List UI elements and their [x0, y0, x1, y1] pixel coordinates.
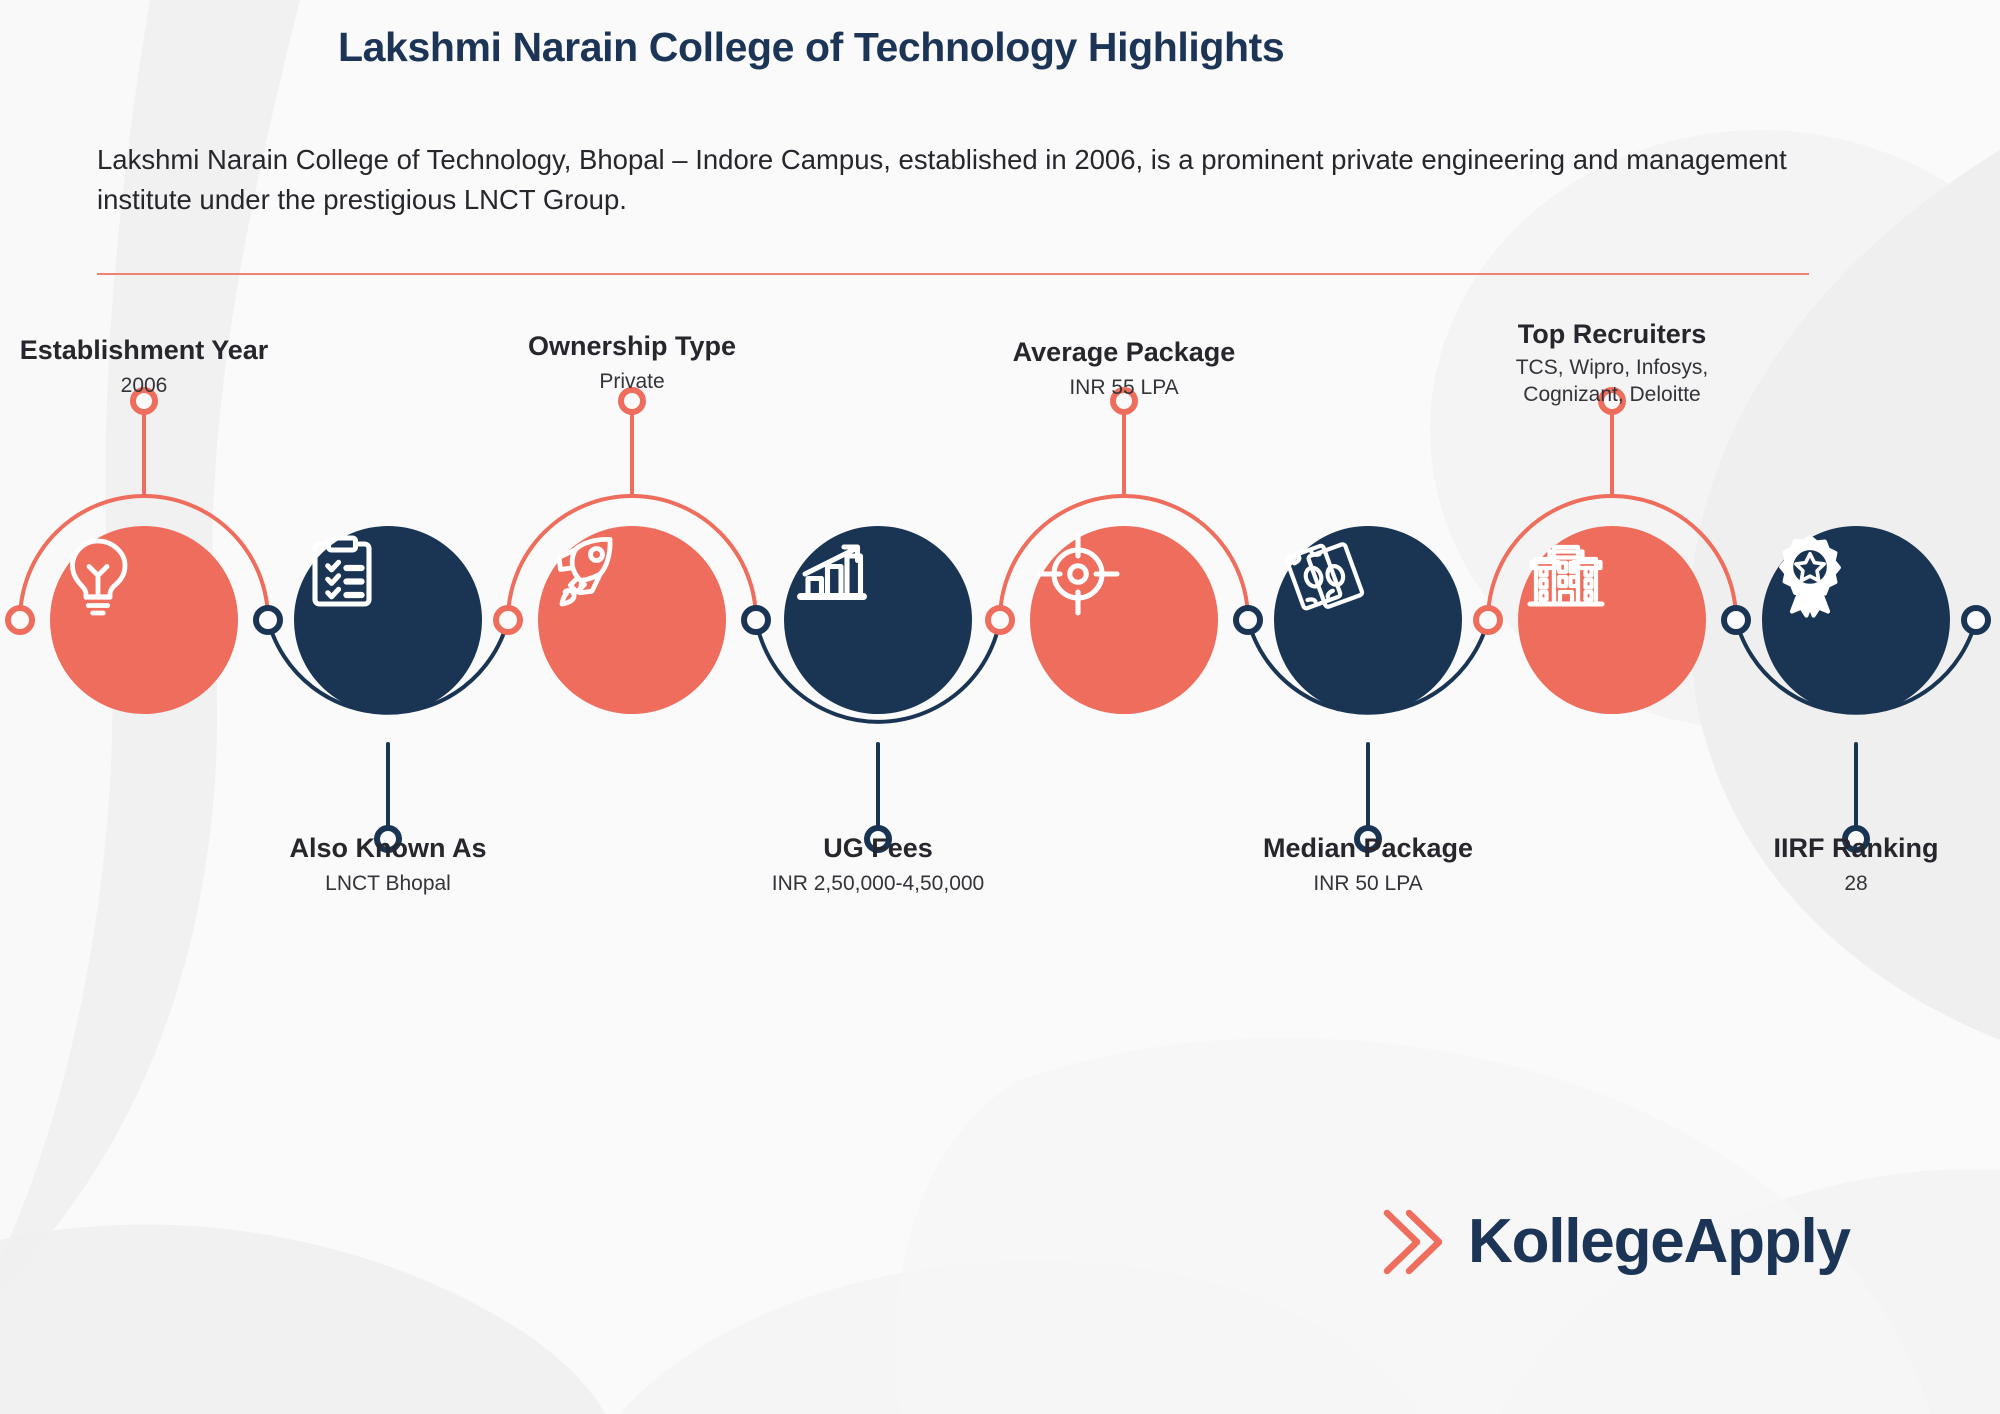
- timeline-node-ug-fees[interactable]: [784, 526, 972, 714]
- double-chevron-icon: [1380, 1205, 1446, 1279]
- timeline-connectors: [0, 380, 2000, 1080]
- page-description: Lakshmi Narain College of Technology, Bh…: [97, 140, 1817, 221]
- timeline-label-iirf-ranking: IIRF Ranking 28: [1686, 832, 2000, 898]
- page-title: Lakshmi Narain College of Technology Hig…: [338, 24, 1284, 71]
- timeline-label-average-package: Average Package INR 55 LPA: [954, 336, 1294, 402]
- brand-logo[interactable]: KollegeApply: [1380, 1205, 1850, 1279]
- timeline-label-ug-fees: UG Fees INR 2,50,000-4,50,000: [708, 832, 1048, 898]
- infographic-page: Lakshmi Narain College of Technology Hig…: [0, 0, 2000, 1414]
- timeline-label-top-recruiters: Top Recruiters TCS, Wipro, Infosys, Cogn…: [1442, 318, 1782, 409]
- timeline-label-ownership-type: Ownership Type Private: [462, 330, 802, 396]
- timeline-node-average-package[interactable]: [1030, 526, 1218, 714]
- timeline-node-iirf-ranking[interactable]: [1762, 526, 1950, 714]
- timeline-node-establishment-year[interactable]: [50, 526, 238, 714]
- header-divider: [97, 273, 1809, 275]
- timeline-label-median-package: Median Package INR 50 LPA: [1198, 832, 1538, 898]
- timeline-node-ownership-type[interactable]: [538, 526, 726, 714]
- timeline-node-also-known-as[interactable]: [294, 526, 482, 714]
- timeline-label-also-known-as: Also Known As LNCT Bhopal: [218, 832, 558, 898]
- brand-name: KollegeApply: [1468, 1211, 1850, 1273]
- timeline-node-median-package[interactable]: [1274, 526, 1462, 714]
- timeline-node-top-recruiters[interactable]: [1518, 526, 1706, 714]
- highlights-timeline: Establishment Year 2006 Also Known As LN…: [0, 380, 2000, 1080]
- timeline-label-establishment-year: Establishment Year 2006: [0, 334, 314, 400]
